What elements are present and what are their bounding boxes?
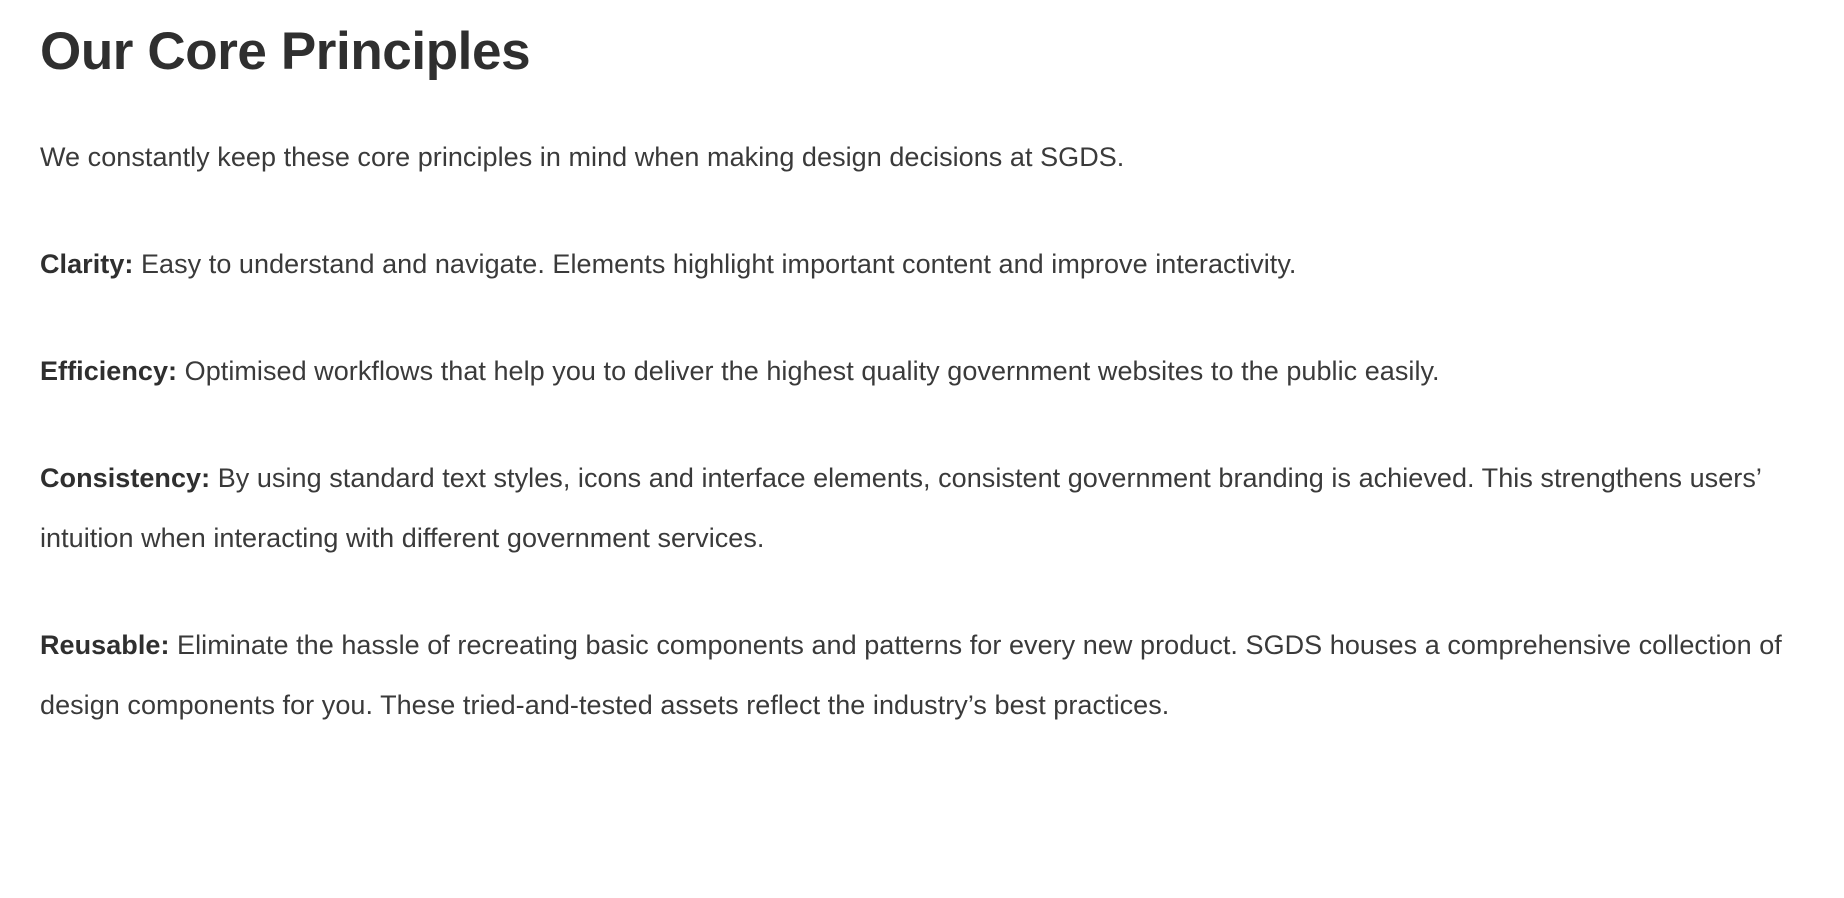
article-body: Our Core Principles We constantly keep t… <box>40 22 1804 735</box>
principle-label-efficiency: Efficiency: <box>40 356 177 386</box>
principle-efficiency: Efficiency: Optimised workflows that hel… <box>40 341 1804 401</box>
principle-label-consistency: Consistency: <box>40 463 210 493</box>
principle-label-clarity: Clarity: <box>40 249 133 279</box>
principle-clarity: Clarity: Easy to understand and navigate… <box>40 234 1804 294</box>
principle-text-reusable: Eliminate the hassle of recreating basic… <box>40 630 1782 720</box>
principle-text-clarity: Easy to understand and navigate. Element… <box>133 249 1296 279</box>
intro-paragraph: We constantly keep these core principles… <box>40 127 1804 187</box>
principle-consistency: Consistency: By using standard text styl… <box>40 448 1804 568</box>
principle-reusable: Reusable: Eliminate the hassle of recrea… <box>40 615 1804 735</box>
content-page: Our Core Principles We constantly keep t… <box>0 0 1844 898</box>
page-title: Our Core Principles <box>40 22 1804 83</box>
principle-text-consistency: By using standard text styles, icons and… <box>40 463 1761 553</box>
principle-text-efficiency: Optimised workflows that help you to del… <box>177 356 1440 386</box>
principle-label-reusable: Reusable: <box>40 630 170 660</box>
